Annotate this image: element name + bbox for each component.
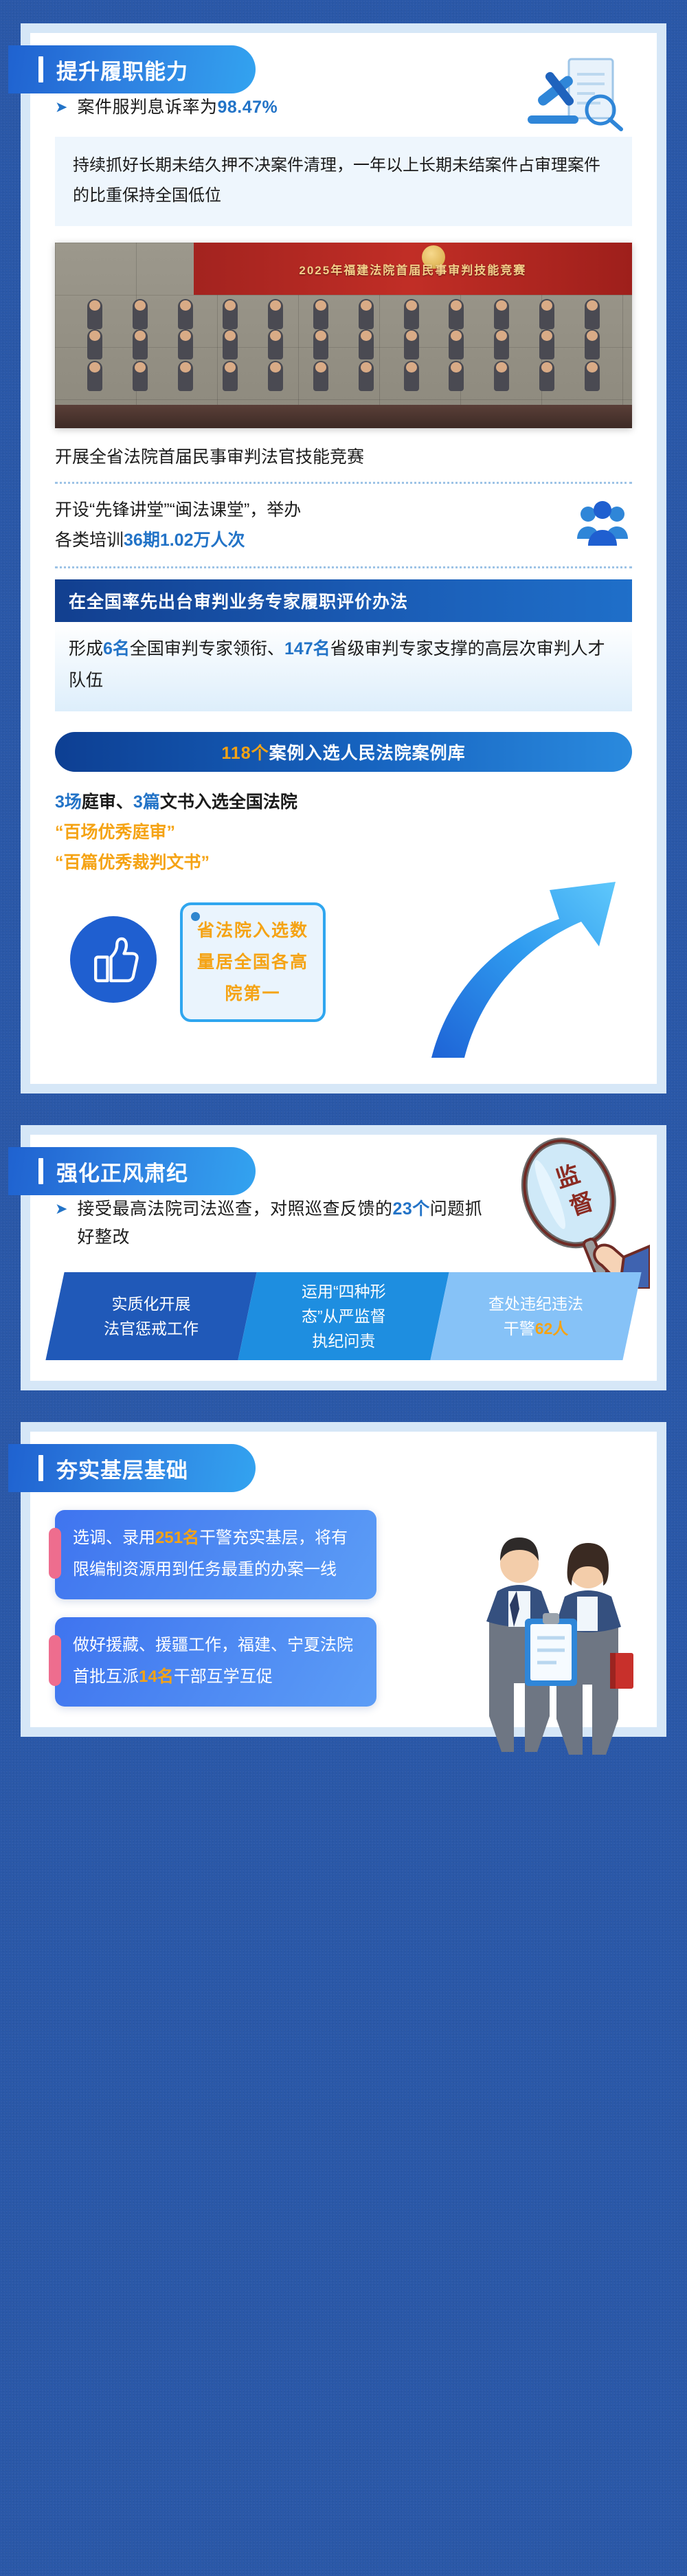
measure-box-punishment: 实质化开展 法官惩戒工作 [45, 1272, 256, 1360]
photo-stage [55, 405, 632, 428]
photo-person [359, 329, 374, 359]
award-line-1: 3场庭审、3篇文书入选全国法院 [55, 787, 632, 817]
photo-row [72, 361, 615, 391]
dotted-divider [55, 566, 632, 568]
measure-box-violations: 查处违纪违法 干警62人 [430, 1272, 641, 1360]
experts-mid: 全国审判专家领衔、 [130, 639, 284, 658]
photo-person [585, 329, 600, 359]
photo-person [178, 361, 193, 391]
measure-line: 执纪问责 [312, 1332, 375, 1350]
photo-person [539, 329, 554, 359]
photo-person [268, 299, 283, 329]
measure-line: 查处违纪违法 [488, 1295, 583, 1313]
photo-person [404, 361, 419, 391]
section-inner-grassroots: 夯实基层基础 [30, 1432, 657, 1727]
recruit-prefix: 选调、录用 [73, 1529, 155, 1547]
arrow-bullet-icon: ➤ [55, 93, 67, 121]
photo-person [87, 299, 102, 329]
section-inner-discipline: 强化正风肃纪 监 督 ➤ 接受最高法院司法巡查，对照巡查反馈的23个问题抓好整改 [30, 1135, 657, 1381]
header-pill: 夯实基层基础 [8, 1444, 256, 1492]
photo-row [72, 299, 615, 329]
section-card-performance: 提升履职能力 ➤ 案件服判息诉率为98.47% [21, 23, 666, 1093]
measure-line: 运用“四种形 [302, 1283, 386, 1300]
dotted-divider [55, 482, 632, 484]
bullet-label: 案件服判息诉率为 [77, 98, 217, 117]
thumbs-up-icon [70, 916, 157, 1003]
photo-person [449, 361, 464, 391]
expert-policy-banner: 在全国率先出台审判业务专家履职评价办法 [55, 579, 632, 622]
sign-line-3: 院第一 [191, 978, 315, 1010]
bullet-text: 案件服判息诉率为98.47% [77, 93, 278, 122]
case-library-count: 118个 [221, 740, 269, 764]
page-title-grassroots: 夯实基层基础 [44, 1453, 188, 1484]
pale-box-case-clearance: 持续抓好长期未结久押不决案件清理，一年以上长期未结案件占审理案件的比重保持全国低… [55, 137, 632, 226]
case-library-label: 案例入选人民法院案例库 [269, 740, 466, 764]
award-text-2: 文书入选全国法院 [160, 792, 297, 812]
award-text-1: 庭审、 [82, 792, 133, 812]
header-accent-bar [38, 1158, 43, 1184]
photo-person [494, 329, 509, 359]
award-quote-1: “百场优秀庭审” [55, 817, 632, 847]
photo-people-rows [55, 293, 632, 428]
discipline-body: ➤ 接受最高法院司法巡查，对照巡查反馈的23个问题抓好整改 实质化开展 法官惩戒… [30, 1195, 657, 1360]
measure-line: 实质化开展 [112, 1295, 191, 1313]
grassroots-card-recruit: 选调、录用251名干警充实基层，将有限编制资源用到任务最重的办案一线 [55, 1510, 376, 1599]
recruit-count: 251名 [155, 1529, 199, 1547]
photo-person [359, 361, 374, 391]
aid-suffix: 干部互学互促 [174, 1667, 273, 1686]
measure-line: 态”从严监督 [302, 1307, 386, 1325]
measure-line: 干警 [504, 1320, 535, 1337]
performance-body: ➤ 案件服判息诉率为98.47% [30, 93, 657, 1063]
section-header-grassroots: 夯实基层基础 [30, 1432, 657, 1492]
training-prefix: 各类培训 [55, 531, 124, 550]
section-card-discipline: 强化正风肃纪 监 督 ➤ 接受最高法院司法巡查，对照巡查反馈的23个问题抓好整改 [21, 1125, 666, 1390]
upward-arrow-icon [422, 858, 628, 1065]
aid-count: 14名 [139, 1667, 174, 1686]
case-library-pill: 118个案例入选人民法院案例库 [55, 732, 632, 772]
grassroots-card-aid: 做好援藏、援疆工作，福建、宁夏法院首批互派14名干部互学互促 [55, 1617, 376, 1707]
training-line-1: 开设“先锋讲堂”“闽法课堂”，举办 [55, 495, 561, 525]
discipline-measure-boxes: 实质化开展 法官惩戒工作 运用“四种形 态”从严监督 执纪问责 查处违纪违法 干… [55, 1272, 632, 1360]
judgment-rate-value: 98.47% [217, 98, 278, 117]
header-accent-bar [38, 1455, 43, 1481]
photo-person [494, 299, 509, 329]
photo-person [404, 299, 419, 329]
photo-person [585, 361, 600, 391]
training-text: 开设“先锋讲堂”“闽法课堂”，举办 各类培训36期1.02万人次 [55, 495, 561, 555]
header-pill: 强化正风肃纪 [8, 1147, 256, 1195]
section-inner-performance: 提升履职能力 ➤ 案件服判息诉率为98.47% [30, 33, 657, 1084]
photo-person [268, 329, 283, 359]
photo-caption: 开展全省法院首届民事审判法官技能竞赛 [55, 428, 632, 471]
provincial-expert-count: 147名 [284, 639, 330, 658]
training-count-value: 36期1.02万人次 [124, 531, 245, 550]
sign-line-2: 量居全国各高 [191, 946, 315, 978]
sign-line-1: 省法院入选数 [191, 915, 315, 946]
highlight-zone: 省法院入选数 量居全国各高 院第一 [55, 885, 632, 1063]
photo-person [449, 329, 464, 359]
measure-box-text: 查处违纪违法 干警62人 [484, 1291, 587, 1341]
photo-person [133, 299, 148, 329]
violation-officer-count: 62人 [535, 1320, 569, 1337]
photo-person [87, 329, 102, 359]
measure-box-text: 运用“四种形 态”从严监督 执纪问责 [297, 1279, 390, 1353]
photo-banner-text: 2025年福建法院首届民事审判技能竞赛 [194, 243, 632, 295]
two-officers-icon [448, 1510, 654, 1757]
photo-person [359, 299, 374, 329]
bullet-judgment-rate: ➤ 案件服判息诉率为98.47% [55, 93, 632, 122]
photo-person [223, 361, 238, 391]
measure-box-four-forms: 运用“四种形 态”从严监督 执纪问责 [238, 1272, 449, 1360]
photo-person [133, 361, 148, 391]
inspection-text: 接受最高法院司法巡查，对照巡查反馈的23个问题抓好整改 [77, 1195, 488, 1252]
expert-team-text: 形成6名全国审判专家领衔、147名省级审判专家支撑的高层次审判人才队伍 [55, 622, 632, 711]
grassroots-body: 选调、录用251名干警充实基层，将有限编制资源用到任务最重的办案一线 做好援藏、… [30, 1510, 657, 1707]
measure-box-text: 实质化开展 法官惩戒工作 [100, 1291, 203, 1341]
photo-person [133, 329, 148, 359]
photo-person [313, 299, 328, 329]
photo-person [223, 329, 238, 359]
experts-prefix: 形成 [69, 639, 103, 658]
photo-person [87, 361, 102, 391]
section-card-grassroots: 夯实基层基础 [21, 1422, 666, 1737]
inspection-prefix: 接受最高法院司法巡查，对照巡查反馈的 [77, 1199, 392, 1219]
page-title-discipline: 强化正风肃纪 [44, 1156, 188, 1187]
page-title-performance: 提升履职能力 [44, 54, 188, 85]
national-expert-count: 6名 [103, 639, 130, 658]
photo-person [313, 361, 328, 391]
photo-person [494, 361, 509, 391]
trial-count: 3场 [55, 792, 82, 812]
people-group-icon [573, 499, 632, 551]
training-row: 开设“先锋讲堂”“闽法课堂”，举办 各类培训36期1.02万人次 [55, 495, 632, 555]
ranking-sign-card: 省法院入选数 量居全国各高 院第一 [180, 902, 326, 1022]
training-line-2: 各类培训36期1.02万人次 [55, 525, 561, 555]
photo-row [72, 329, 615, 359]
photo-person [313, 329, 328, 359]
measure-line: 法官惩戒工作 [104, 1320, 199, 1337]
photo-person [539, 361, 554, 391]
photo-person [404, 329, 419, 359]
gavel-document-icon [518, 51, 628, 133]
photo-banner: 2025年福建法院首届民事审判技能竞赛 [194, 243, 632, 295]
section-header-discipline: 强化正风肃纪 监 督 [30, 1135, 657, 1195]
bullet-inspection: ➤ 接受最高法院司法巡查，对照巡查反馈的23个问题抓好整改 [55, 1195, 632, 1252]
photo-person [449, 299, 464, 329]
photo-person [178, 299, 193, 329]
header-accent-bar [38, 56, 43, 82]
inspection-issue-count: 23个 [392, 1199, 429, 1219]
photo-person [585, 299, 600, 329]
competition-photo: 2025年福建法院首届民事审判技能竞赛 [55, 243, 632, 428]
header-pill: 提升履职能力 [8, 45, 256, 93]
photo-person [268, 361, 283, 391]
thumbs-up-glyph [84, 930, 143, 989]
arrow-bullet-icon: ➤ [55, 1195, 67, 1223]
photo-person [539, 299, 554, 329]
photo-person [223, 299, 238, 329]
document-count: 3篇 [133, 792, 160, 812]
photo-person [178, 329, 193, 359]
